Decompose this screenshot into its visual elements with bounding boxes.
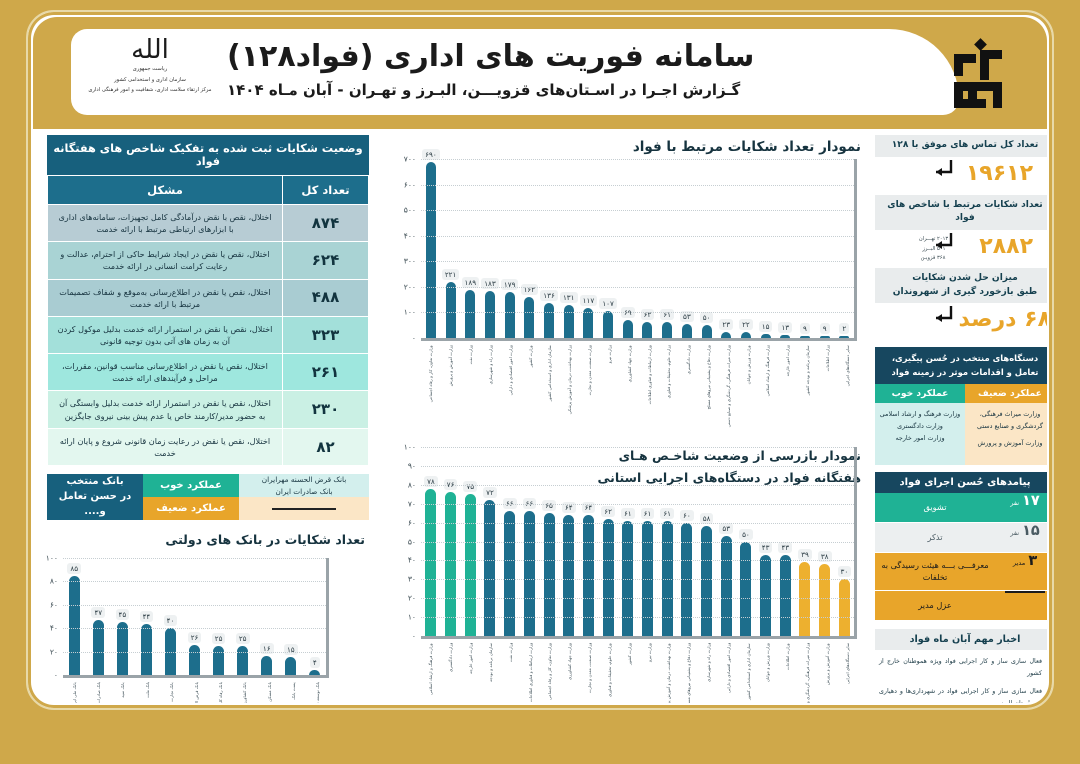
bar [662,322,672,338]
emblem-sub-1: ریاست جمهوری [85,66,215,74]
bar-value-label: ۱۱۷ [580,295,598,306]
bar [603,311,613,338]
x-axis-tick: بانک ملی ایران [72,682,77,703]
y-axis-tick: ۱۰۰ [46,553,58,562]
x-label-cell: وزارت دفاع و پشتیبانی نیروهای مسلح [699,345,718,427]
city-value: ۳۶۸ [937,254,959,264]
x-axis-tick: بانک ملت [145,682,150,703]
y-axis-tick: ۱۰۰ [404,308,416,317]
news-item: فعال سازی ساز و کار اجرایی فواد در شهردا… [879,686,1047,703]
bank-chart: تعداد شکایات در بانک های دولتی ۸۵۴۷۴۵۴۴۴… [47,530,369,703]
news-header: اخبار مهم آبان ماه فواد [875,629,1047,650]
bar-cell: ۱۶۲ [520,159,539,338]
bar [425,489,436,636]
x-axis-tick: وزارت ارتباطات و فناوری اطلاعات [647,345,652,427]
calls-stat-row: ۱۹۶۱۲ [875,157,1047,195]
x-axis-tick: وزارت ورزش و جوانان [746,345,751,427]
legend-key-good: عملکرد خوب [143,474,239,497]
x-label-cell: وزارت بهداشت، درمان و آموزش پزشکی [560,345,579,427]
gridline [421,523,854,524]
complaints-city-breakdown: ۲۰۱۳ تهـــران ۵۰۱ البــرز ۳۶۸ قزویـن [919,235,959,264]
cell-count: ۶۲۴ [283,242,369,279]
y-axis-tick: ۵۰ [408,537,416,546]
outcome-value: ۳ [1028,553,1037,569]
x-axis-tick: وزارت کشور [528,345,533,427]
outcome-label: تشویق [875,493,995,522]
gridline [421,287,854,288]
x-axis-tick: وزارت دادگستری [686,345,691,427]
y-axis-tick: ۸۰ [50,577,58,586]
bar-value-label: ۱۵ [284,644,298,655]
bar-value-label: ۶۲ [601,506,615,517]
x-axis-tick: وزارت صنعت، معدن و تجارت [587,345,592,427]
x-label-cell: وزارت فرهنگ و ارشاد اسلامی [421,643,440,703]
bar-cell: ۵۰ [697,159,716,338]
bar-cell: ۱۰۷ [598,159,617,338]
x-axis-tick: وزارت تعاون، کار و رفاه اجتماعی [428,345,433,427]
audit-chart: نمودار بازرسی از وضعیت شاخـص هـای هفتگان… [377,441,867,703]
bar-cell: ۴۰ [159,558,181,675]
cell-issue: اختلال، نقص یا نقض در اطلاع‌رسانی مناسب … [48,354,283,391]
gridline [421,261,854,262]
gridline [421,485,854,486]
city-row: ۲۰۱۳ تهـــران [919,235,959,245]
resolution-header-line2: طبق بازخورد گیری از شهروندان [878,286,1047,300]
bar-value-label: ۱۷۹ [501,279,519,290]
bar [741,332,751,338]
x-label-cell: وزارت دفاع و پشتیبانی نیروهای مسلح [679,643,698,703]
bar-cell: ۲۳ [717,159,736,338]
bar-value-label: ۵۰ [739,529,753,540]
x-label-cell: وزارت راه و شهرسازی [699,643,718,703]
col-header-issue: مشکل [48,176,283,205]
outcome-label: تذکر [875,523,995,552]
y-axis-tick: ۷۰ [408,499,416,508]
outcome-dash-icon [1005,591,1045,593]
agencies-header-line1: دستگاه‌های منتخب در حُسن پیگیری، [879,352,1047,365]
x-axis-tick: وزارت بهداشت، درمان و آموزش پزشکی [666,643,671,703]
news-list: فعال سازی ساز و کار اجرایی فواد ویژه همو… [875,650,1047,703]
bar-cell: ۱۶ [256,558,278,675]
bar [544,303,554,338]
bar-cell: ۲۵ [232,558,254,675]
x-axis-tick: وزارت نفت [508,643,513,703]
agencies-bad-items: وزارت میراث فرهنگی، گردشگری و صنایع دستی… [965,403,1047,465]
table-row: ۳۲۳ اختلال، نقص یا نقض در استمرار ارائه … [48,316,369,353]
outcome-value: ۱۷ [1022,493,1040,509]
x-label-cell: وزارت ارتباطات و فناوری اطلاعات [520,643,539,703]
x-label-cell: وزارت صنعت، معدن و تجارت [580,643,599,703]
x-axis-tick: سازمان برنامه و بودجه کشور [805,345,810,427]
cell-issue: اختلال، نقص یا نقض در رعایت زمان قانونی … [48,428,283,465]
outcomes-header: پیامدهای حُسن اجرای فواد [875,472,1047,493]
x-axis-tick: وزارت فرهنگ و ارشاد اسلامی [765,345,770,427]
complaints-x-labels: وزارت تعاون، کار و رفاه اجتماعیوزارت آمو… [421,345,857,427]
gridline [421,560,854,561]
x-axis-tick: سازمان اداری و استخدامی کشور [746,643,751,703]
bar [721,536,732,636]
gridline [421,504,854,505]
resolution-stat-value: ۶۸ درصد [959,307,1047,332]
bar-value-label: ۱۳۶ [540,290,558,301]
bar [117,622,128,675]
y-axis-tick: ۴۰ [50,624,58,633]
bar-value-label: ۲ [839,323,849,334]
bank-legend-keys: عملکرد خوب عملکرد ضعیف [143,474,239,520]
bar [141,624,152,675]
x-axis-tick: وزارت نفت [468,345,473,427]
bank-x-labels: بانک ملی ایرانبانک صادراتبانک سپهبانک مل… [63,682,329,703]
outcome-unit: مدیر [1013,559,1025,567]
table-row: ۸۲ اختلال، نقص یا نقض در رعایت زمان قانو… [48,428,369,465]
complaints-stat-row: ۲۸۸۲ ۲۰۱۳ تهـــران ۵۰۱ البــرز ۳۶۸ قزویـ… [875,230,1047,268]
city-name: تهـــران [919,236,936,242]
x-axis-tick: وزارت علوم، تحقیقات و فناوری [607,643,612,703]
bar [740,542,751,637]
x-axis-tick: وزارت امور خارجه [468,643,473,703]
bar [237,646,248,675]
x-label-cell: وزارت دادگستری [679,345,698,427]
bar-cell: ۹ [815,159,834,338]
x-label-cell: وزارت ورزش و جوانان [739,345,758,427]
bar [721,332,731,338]
bar-cell: ۱۳ [776,159,795,338]
y-axis-tick: ۲۰ [408,594,416,603]
agency-item: وزارت میراث فرهنگی، گردشگری و صنایع دستی [969,409,1047,433]
bar [446,282,456,339]
bar [642,322,652,338]
bar-value-label: ۵۰ [700,312,714,323]
cell-count: ۲۶۱ [283,354,369,391]
bank-legend-label: بانک منتخب در حسن تعامل و.... [47,474,143,520]
x-label-cell: وزارت میراث فرهنگی، گردشگری و صنایع دستی [798,643,817,703]
bar-value-label: ۳۹ [798,549,812,560]
gridline [421,236,854,237]
table-row: ۸۷۴ اختلال، نقص با نقض درآمادگی کامل تجه… [48,205,369,242]
page-title: سامانه فوریت های اداری (فواد۱۲۸) [227,39,907,74]
outcome-row: تذکر ۱۵ نفر [875,523,1047,553]
y-axis-tick: ۶۰ [408,518,416,527]
agency-item: وزارت امور خارجه [879,433,961,445]
bar [309,670,320,675]
table-row: ۲۶۱ اختلال، نقص یا نقض در اطلاع‌رسانی من… [48,354,369,391]
bar [484,500,495,636]
agencies-header: دستگاه‌های منتخب در حُسن پیگیری، تعامل و… [875,347,1047,384]
bar [702,325,712,338]
agencies-performance-row: عملکرد خوب وزارت فرهنگ و ارشاد اسلامی وز… [875,384,1047,465]
y-axis-tick: ۹۰ [408,461,416,470]
x-label-cell: وزارت ارتباطات و فناوری اطلاعات [639,345,658,427]
x-axis-tick: سازمان اداری و استخدامی کشور [547,345,552,427]
y-axis-tick: ۳۰۰ [404,257,416,266]
bar [800,336,810,338]
x-label-cell: وزارت نیرو [639,643,658,703]
bar [524,297,534,338]
bar-cell: ۲۲ [736,159,755,338]
x-label-cell: سازمان اداری و استخدامی کشور [739,643,758,703]
outcome-row: معرفـــی بـــه هیئت رسیدگی به تخلفات ۳ م… [875,553,1047,591]
bar-cell: ۵۳ [677,159,696,338]
iran-emblem-icon: الله [85,37,215,63]
bank-chart-title: تعداد شکایات در بانک های دولتی [165,532,365,547]
x-label-cell: بانک صادرات [87,682,109,703]
arrow-hook-icon [929,305,955,327]
bank-plot: ۸۵۴۷۴۵۴۴۴۰۲۶۲۵۲۵۱۶۱۵۴ ۰۲۰۴۰۶۰۸۰۱۰۰ [63,558,329,678]
agencies-bad-label: عملکرد ضعیف [965,384,1047,403]
gridline [63,605,326,606]
bar-cell: ۲ [835,159,854,338]
x-axis-tick: وزارت دادگستری [448,643,453,703]
bar-value-label: ۹ [820,323,830,334]
emblem-sub-3: مرکز ارتقاء سلامت اداری، شفافیت و امور ف… [85,87,215,95]
complaints-bars: ۶۹۰۲۲۱۱۸۹۱۸۳۱۷۹۱۶۲۱۳۶۱۳۱۱۱۷۱۰۷۶۹۶۲۶۱۵۳۵۰… [421,159,854,338]
x-axis-tick: بانک مسکن [267,682,272,703]
bar-value-label: ۴۵ [116,609,130,620]
table-header-row: تعداد کل مشکل [48,176,369,205]
bar [261,656,272,675]
audit-x-labels: وزارت فرهنگ و ارشاد اسلامیوزارت دادگستری… [421,643,857,703]
x-axis-tick: وزارت راه و شهرسازی [706,643,711,703]
bar-value-label: ۶۵ [542,500,556,511]
bar [780,555,791,636]
bank-legend-values: بانک قرض الحسنه مهرایران بانک صادرات ایر… [239,474,369,520]
x-axis-tick: بانک توسعه تعاون [315,682,320,703]
bank-legend-label-line1: بانک منتخب [66,474,123,489]
x-label-cell: بانک ملت [136,682,158,703]
gridline [421,185,854,186]
x-axis-tick: وزارت اطلاعات [785,643,790,703]
news-item: فعال سازی ساز و کار اجرایی فواد ویژه همو… [879,656,1047,680]
bar [839,579,850,636]
bar-value-label: ۷۵ [463,481,477,492]
bar [465,494,476,636]
emblem-sub-2: سازمان اداری و استخدامی کشور [85,77,215,85]
bar-cell: ۱۸۹ [461,159,480,338]
cell-count: ۸۷۴ [283,205,369,242]
bar [760,555,771,636]
legend-bad-dash-icon [272,508,336,510]
y-axis-tick: ۲۰ [50,647,58,656]
bar [69,576,80,675]
outcome-row: عزل مدیر [875,591,1047,621]
bar-value-label: ۲۲ [739,319,753,330]
cell-count: ۲۳۰ [283,391,369,428]
x-label-cell: وزارت اطلاعات [818,345,837,427]
x-label-cell: بانک مسکن [258,682,280,703]
gridline [421,542,854,543]
outcome-unit: نفر [1010,529,1019,537]
outcome-value-wrap [995,591,1047,620]
city-value: ۲۰۱۳ [937,235,959,245]
bar-cell: ۸۵ [63,558,85,675]
x-axis-tick: وزارت علوم، تحقیقات و فناوری [666,345,671,427]
bank-chart-area: ۸۵۴۷۴۵۴۴۴۰۲۶۲۵۲۵۱۶۱۵۴ ۰۲۰۴۰۶۰۸۰۱۰۰ بانک … [47,552,369,703]
x-label-cell: بانک کشاورزی [234,682,256,703]
outcome-value-wrap: ۱۵ نفر [995,523,1047,552]
complaints-stat-value: ۲۸۸۲ [979,234,1033,259]
bar-cell: ۹ [795,159,814,338]
agency-item: وزارت آموزش و پرورش [969,438,1047,450]
x-axis-tick: وزارت آموزش و پرورش [825,643,830,703]
bar-value-label: ۱۳ [778,322,792,333]
bar-value-label: ۶۱ [660,508,674,519]
resolution-header-line1: میزان حل شدن شکایات [878,272,1047,286]
x-axis-tick: سایر دستگاه‌های اجرایی [845,643,850,703]
x-axis-tick: بانک تجارت [169,682,174,703]
y-axis-tick: ۴۰ [408,556,416,565]
bank-legend: بانک منتخب در حسن تعامل و.... عملکرد خوب… [47,474,369,520]
y-axis-tick: ۸۰ [408,480,416,489]
bar-cell: ۶۲ [638,159,657,338]
calls-stat-header: تعداد کل تماس های موفق با ۱۲۸ [875,135,1047,157]
bar-value-label: ۲۵ [236,633,250,644]
resolution-stat-header: میزان حل شدن شکایات طبق بازخورد گیری از … [875,268,1047,303]
bar-cell: ۲۵ [207,558,229,675]
bar-value-label: ۵۳ [719,523,733,534]
table-body: ۸۷۴ اختلال، نقص با نقض درآمادگی کامل تجه… [48,205,369,466]
y-axis-tick: ۴۰۰ [404,231,416,240]
cell-issue: اختلال، نقص یا نقض در استمرار ارائه خدمت… [48,391,283,428]
gridline [421,210,854,211]
gridline [421,598,854,599]
x-label-cell: بانک رفاه کارگران [209,682,231,703]
bar-value-label: ۷۲ [483,487,497,498]
x-label-cell: وزارت جهاد کشاورزی [560,643,579,703]
outcome-row: تشویق ۱۷ نفر [875,493,1047,523]
x-label-cell: وزارت صنعت، معدن و تجارت [580,345,599,427]
x-axis-tick: پست بانک [291,682,296,703]
bar-value-label: ۸۵ [67,563,81,574]
y-axis-tick: ۰ [412,334,416,343]
x-axis-tick: بانک رفاه کارگران [218,682,223,703]
x-label-cell: وزارت علوم، تحقیقات و فناوری [600,643,619,703]
y-axis-tick: ۰ [54,670,58,679]
bar-cell: ۱۷۹ [500,159,519,338]
bar-cell: ۴۷ [87,558,109,675]
bar [820,336,830,338]
x-axis-tick: وزارت نیرو [647,643,652,703]
x-label-cell: سازمان اداری و استخدامی کشور [540,345,559,427]
x-label-cell: سایر دستگاه‌های اجرایی [838,345,857,427]
bar-value-label: ۶۲ [641,309,655,320]
bar-value-label: ۹ [800,323,810,334]
bar [485,291,495,338]
legend-good-banks: بانک قرض الحسنه مهرایران بانک صادرات ایر… [239,474,369,497]
bar-value-label: ۶۱ [641,508,655,519]
legend-good-bank-2: بانک صادرات ایران [276,486,333,498]
bar-value-label: ۴۴ [140,611,154,622]
indicators-table-title: وضعیت شکایات ثبت شده به تفکیک شاخص های ه… [47,135,369,175]
agencies-header-line2: تعامل و اقدامات موثر در زمینه فواد [879,366,1047,379]
legend-bad-banks [239,497,369,520]
x-label-cell: سازمان برنامه و بودجه [481,643,500,703]
bar [780,335,790,338]
gridline [421,312,854,313]
x-axis-tick: وزارت جهاد کشاورزی [627,345,632,427]
city-name: البــرز [922,246,935,252]
x-label-cell: وزارت تعاون، کار و رفاه اجتماعی [421,345,440,427]
cell-count: ۸۲ [283,428,369,465]
x-label-cell: سایر دستگاه‌های اجرایی [838,643,857,703]
right-column: تعداد کل تماس های موفق با ۱۲۸ ۱۹۶۱۲ تعدا… [875,135,1047,703]
x-axis-tick: وزارت امور اقتصادی و دارایی [726,643,731,703]
x-axis-tick: وزارت ورزش و جوانان [765,643,770,703]
gridline [63,628,326,629]
gridline [421,617,854,618]
x-axis-tick: بانک سپه [120,682,125,703]
gridline [421,447,854,448]
bar-cell: ۶۹۰ [421,159,440,338]
left-column: وضعیت شکایات ثبت شده به تفکیک شاخص های ه… [47,135,369,703]
bar-value-label: ۲۶ [188,632,202,643]
x-label-cell: بانک ملی ایران [63,682,85,703]
x-label-cell: وزارت امور اقتصادی و دارایی [719,643,738,703]
x-label-cell: وزارت آموزش و پرورش [818,643,837,703]
table-row: ۴۸۸ اختلال، نقص یا نقض در اطلاع‌رسانی به… [48,279,369,316]
bar-value-label: ۲۲۱ [442,269,460,280]
bar [285,657,296,675]
bar [701,526,712,636]
outcome-label: معرفـــی بـــه هیئت رسیدگی به تخلفات [875,553,995,590]
bar-cell: ۲۶ [183,558,205,675]
x-label-cell: وزارت ورزش و جوانان [758,643,777,703]
bar-value-label: ۴ [310,657,320,668]
gridline [421,159,854,160]
x-axis-tick: وزارت صنعت، معدن و تجارت [587,643,592,703]
x-axis-tick: بانک صادرات [96,682,101,703]
x-label-cell: وزارت نفت [501,643,520,703]
audit-plot: ۷۸۷۶۷۵۷۲۶۶۶۶۶۵۶۴۶۴۶۲۶۱۶۱۶۱۶۰۵۸۵۳۵۰۴۳۴۳۳۹… [421,447,857,639]
outcome-label: عزل مدیر [875,591,995,620]
y-axis-tick: ۰ [412,632,416,641]
city-row: ۳۶۸ قزویـن [919,254,959,264]
x-label-cell: وزارت آموزش و پرورش [441,345,460,427]
x-axis-tick: وزارت نیرو [607,345,612,427]
resolution-stat-row: ۶۸ درصد [875,303,1047,341]
agencies-good-col: عملکرد خوب وزارت فرهنگ و ارشاد اسلامی وز… [875,384,965,465]
agencies-good-items: وزارت فرهنگ و ارشاد اسلامی وزارت دادگستر… [875,403,965,465]
bar-value-label: ۲۵ [212,633,226,644]
bar [189,645,200,675]
x-label-cell: وزارت اطلاعات [778,643,797,703]
cell-issue: اختلال، نقص یا نقض در اطلاع‌رسانی به‌موق… [48,279,283,316]
complaints-plot: ۶۹۰۲۲۱۱۸۹۱۸۳۱۷۹۱۶۲۱۳۶۱۳۱۱۱۷۱۰۷۶۹۶۲۶۱۵۳۵۰… [421,159,857,341]
x-label-cell: وزارت تعاون، کار و رفاه اجتماعی [540,643,559,703]
x-label-cell: بانک سپه [112,682,134,703]
bar-cell: ۶۹ [618,159,637,338]
x-axis-tick: وزارت امور اقتصادی و دارایی [508,345,513,427]
x-label-cell: وزارت علوم، تحقیقات و فناوری [659,345,678,427]
table-row: ۶۲۴ اختلال، نقص یا نقض در ایجاد شرایط حا… [48,242,369,279]
bar-value-label: ۱۶ [260,643,274,654]
bar [213,646,224,675]
bar [761,334,771,338]
bar-cell: ۴۴ [135,558,157,675]
city-value: ۵۰۱ [937,245,959,255]
bank-bars: ۸۵۴۷۴۵۴۴۴۰۲۶۲۵۲۵۱۶۱۵۴ [63,558,326,675]
x-axis-tick: سایر دستگاه‌های اجرایی [845,345,850,427]
y-axis-tick: ۲۰۰ [404,282,416,291]
x-label-cell: وزارت امور خارجه [461,643,480,703]
x-label-cell: بانک قرض الحسنه مهر ایران [185,682,207,703]
bar-value-label: ۴۳ [759,542,773,553]
center-column: نمودار تعداد شکایات مرتبط با فواد ۶۹۰۲۲۱… [377,135,867,703]
x-axis-tick: وزارت میراث فرهنگی، گردشگری و صنایع دستی [805,643,810,703]
x-axis-tick: وزارت آموزش و پرورش [448,345,453,427]
bar [623,320,633,338]
bar-value-label: ۴۷ [91,607,105,618]
bar-value-label: ۱۰۷ [599,298,617,309]
